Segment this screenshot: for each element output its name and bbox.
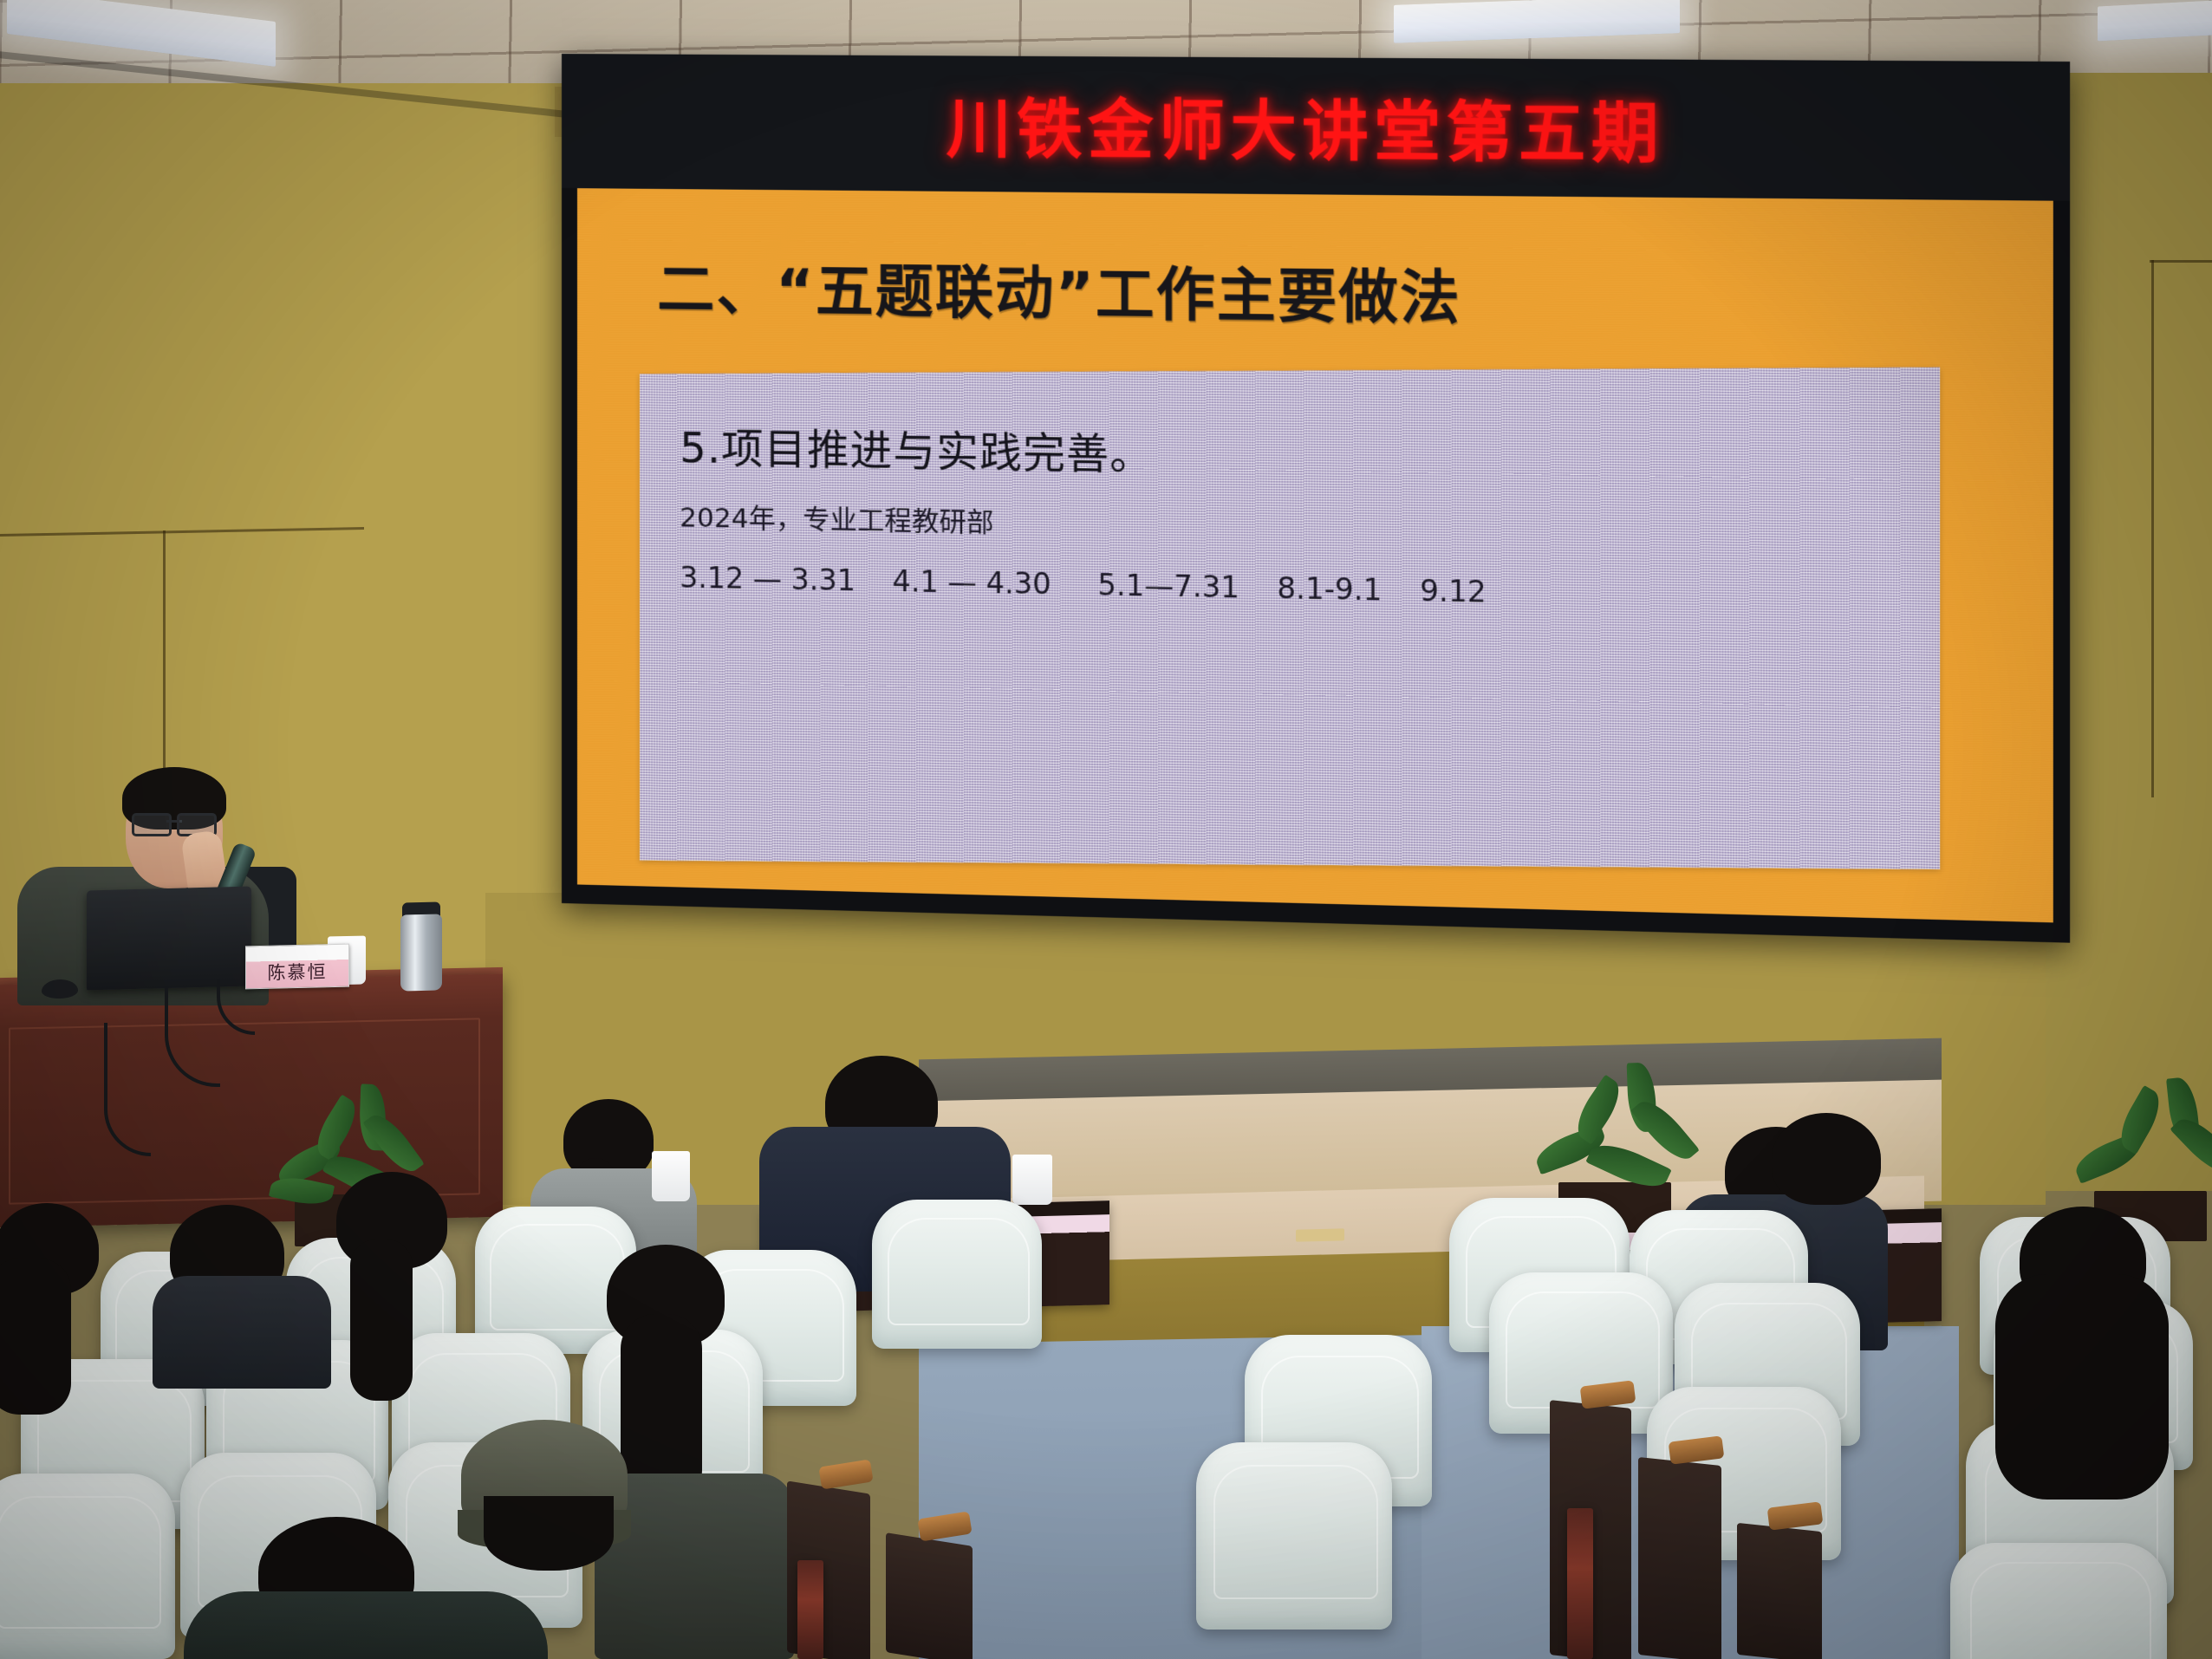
seat[interactable] bbox=[872, 1200, 1042, 1349]
thermos-flask bbox=[400, 914, 442, 991]
seat[interactable] bbox=[1196, 1442, 1392, 1630]
seat[interactable] bbox=[1950, 1543, 2167, 1659]
slide-body-line-2: 2024年，专业工程教研部 bbox=[680, 495, 1940, 556]
led-display-screen[interactable]: 川铁金师大讲堂第五期 二、“五题联动”工作主要做法 5.项目推进与实践完善。 2… bbox=[562, 54, 2070, 943]
seat[interactable] bbox=[0, 1474, 175, 1659]
wall-door-edge-right bbox=[2151, 260, 2154, 797]
lecture-hall-photo: 川铁金师大讲堂第五期 二、“五题联动”工作主要做法 5.项目推进与实践完善。 2… bbox=[0, 0, 2212, 1659]
seat-rail-left-front bbox=[797, 1560, 823, 1659]
wall-seam-horizontal-right bbox=[2150, 260, 2212, 263]
seat-row-rail bbox=[1737, 1523, 1822, 1659]
glasses-icon bbox=[132, 813, 217, 832]
speaker-name-text: 陈慕恒 bbox=[268, 958, 328, 988]
slide-body-line-3: 3.12 — 3.31 4.1 — 4.30 5.1—7.31 8.1-9.1 … bbox=[680, 560, 1940, 617]
speaker-nameplate: 陈慕恒 bbox=[245, 944, 349, 990]
ceiling-light-right bbox=[2098, 0, 2212, 42]
banner-title-text: 川铁金师大讲堂第五期 bbox=[947, 77, 1664, 177]
stage-floor-socket bbox=[1296, 1228, 1344, 1241]
seat-armrest bbox=[818, 1459, 873, 1489]
screen-banner-bar: 川铁金师大讲堂第五期 bbox=[562, 54, 2070, 201]
slide-heading: 二、“五题联动”工作主要做法 bbox=[657, 243, 1461, 335]
laptop-screen[interactable] bbox=[87, 887, 251, 991]
slide-content-box: 5.项目推进与实践完善。 2024年，专业工程教研部 3.12 — 3.31 4… bbox=[640, 368, 1940, 869]
seat-row-rail bbox=[1638, 1457, 1721, 1659]
slide-body-line-1: 5.项目推进与实践完善。 bbox=[680, 413, 1940, 494]
paper-cup-table-1 bbox=[1012, 1155, 1052, 1205]
seat-rail-right-front bbox=[1567, 1508, 1593, 1659]
seat-row-rail bbox=[886, 1532, 973, 1659]
computer-mouse[interactable] bbox=[42, 979, 78, 999]
paper-cup-table-2 bbox=[652, 1151, 690, 1201]
presentation-slide: 二、“五题联动”工作主要做法 5.项目推进与实践完善。 2024年，专业工程教研… bbox=[577, 188, 2053, 922]
